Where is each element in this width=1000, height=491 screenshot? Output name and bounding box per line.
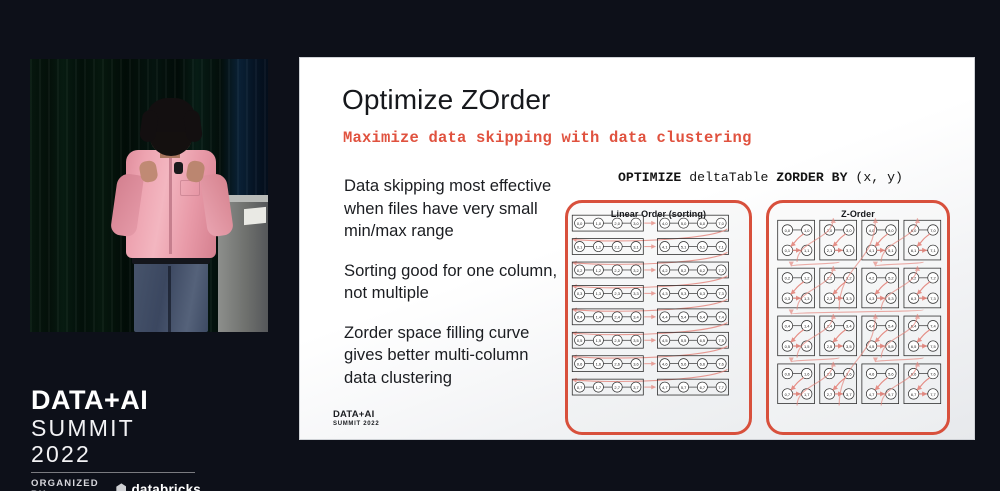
svg-text:4,5: 4,5 — [869, 344, 875, 349]
svg-text:4,4: 4,4 — [662, 315, 668, 320]
svg-text:1,2: 1,2 — [804, 276, 810, 281]
svg-text:5,6: 5,6 — [681, 362, 687, 367]
speaker-hair — [146, 98, 196, 132]
svg-text:7,2: 7,2 — [930, 276, 936, 281]
svg-text:6,2: 6,2 — [700, 268, 706, 273]
svg-text:7,3: 7,3 — [930, 296, 936, 301]
svg-text:5,1: 5,1 — [681, 244, 687, 249]
slide-body-text: Data skipping most effective when files … — [344, 175, 562, 390]
svg-text:2,3: 2,3 — [827, 296, 833, 301]
svg-text:7,5: 7,5 — [718, 338, 724, 343]
svg-text:5,0: 5,0 — [888, 228, 894, 233]
svg-text:0,4: 0,4 — [785, 324, 791, 329]
svg-text:0,3: 0,3 — [577, 291, 583, 296]
svg-text:4,2: 4,2 — [662, 268, 668, 273]
event-logo-line2: SUMMIT 2022 — [31, 415, 201, 468]
svg-text:3,6: 3,6 — [633, 362, 639, 367]
svg-text:4,3: 4,3 — [869, 296, 875, 301]
svg-text:7,4: 7,4 — [718, 315, 724, 320]
svg-text:5,6: 5,6 — [888, 371, 894, 376]
svg-text:3,7: 3,7 — [846, 392, 852, 397]
svg-text:0,1: 0,1 — [577, 244, 583, 249]
svg-text:0,5: 0,5 — [785, 344, 791, 349]
svg-text:6,7: 6,7 — [911, 392, 917, 397]
slide-footer-line1: DATA+AI — [333, 410, 379, 420]
svg-text:7,4: 7,4 — [930, 324, 936, 329]
databricks-wordmark: databricks — [131, 482, 201, 491]
svg-text:5,3: 5,3 — [681, 291, 687, 296]
event-logo-organizer: ORGANIZED BY databricks — [31, 478, 201, 491]
svg-text:1,5: 1,5 — [804, 344, 810, 349]
svg-text:1,6: 1,6 — [804, 371, 810, 376]
svg-text:1,0: 1,0 — [804, 228, 810, 233]
svg-text:7,6: 7,6 — [718, 362, 724, 367]
z-order-diagram: Z-Order 0,01,00,11,12,03,02,13,14,05,04,… — [766, 200, 950, 435]
svg-text:3,5: 3,5 — [846, 344, 852, 349]
svg-text:0,4: 0,4 — [577, 315, 583, 320]
svg-text:1,4: 1,4 — [804, 324, 810, 329]
svg-text:5,4: 5,4 — [681, 315, 687, 320]
speaker-figure — [116, 100, 226, 332]
svg-text:3,1: 3,1 — [846, 248, 852, 253]
svg-text:3,4: 3,4 — [846, 324, 852, 329]
slide-title: Optimize ZOrder — [342, 84, 550, 116]
svg-text:1,5: 1,5 — [596, 338, 602, 343]
code-token: (x, y) — [848, 170, 903, 185]
slide-footer-line2: SUMMIT 2022 — [333, 421, 379, 427]
svg-text:3,4: 3,4 — [633, 315, 639, 320]
svg-text:6,1: 6,1 — [911, 248, 917, 253]
svg-text:7,7: 7,7 — [930, 392, 936, 397]
svg-text:5,7: 5,7 — [681, 385, 687, 390]
svg-text:3,1: 3,1 — [633, 244, 639, 249]
speaker-video[interactable] — [30, 59, 268, 332]
event-logo-line1: DATA+AI — [31, 387, 201, 415]
body-paragraph-1: Data skipping most effective when files … — [344, 175, 562, 243]
svg-text:1,0: 1,0 — [596, 221, 602, 226]
svg-text:1,6: 1,6 — [596, 362, 602, 367]
svg-text:2,5: 2,5 — [827, 344, 833, 349]
svg-text:3,2: 3,2 — [633, 268, 639, 273]
svg-text:0,0: 0,0 — [577, 221, 583, 226]
svg-text:2,0: 2,0 — [614, 221, 620, 226]
svg-text:1,7: 1,7 — [804, 392, 810, 397]
svg-text:5,5: 5,5 — [888, 344, 894, 349]
svg-text:7,3: 7,3 — [718, 291, 724, 296]
svg-text:6,6: 6,6 — [700, 362, 706, 367]
svg-text:3,3: 3,3 — [633, 291, 639, 296]
svg-text:5,2: 5,2 — [888, 276, 894, 281]
svg-text:7,0: 7,0 — [718, 221, 724, 226]
svg-text:0,6: 0,6 — [785, 371, 791, 376]
svg-text:6,0: 6,0 — [700, 221, 706, 226]
svg-text:3,5: 3,5 — [633, 338, 639, 343]
svg-text:0,7: 0,7 — [577, 385, 583, 390]
svg-text:4,6: 4,6 — [869, 371, 875, 376]
slide: Optimize ZOrder Maximize data skipping w… — [299, 57, 975, 440]
svg-text:4,7: 4,7 — [869, 392, 875, 397]
svg-text:0,3: 0,3 — [785, 296, 791, 301]
body-paragraph-3: Zorder space filling curve gives better … — [344, 322, 562, 390]
svg-text:4,5: 4,5 — [662, 338, 668, 343]
organized-by-label: ORGANIZED BY — [31, 478, 111, 491]
svg-text:2,7: 2,7 — [827, 392, 833, 397]
svg-text:6,5: 6,5 — [911, 344, 917, 349]
linear-order-diagram: Linear Order (sorting) 0,01,02,03,04,05,… — [565, 200, 752, 435]
svg-text:2,3: 2,3 — [614, 291, 620, 296]
svg-text:0,6: 0,6 — [577, 362, 583, 367]
svg-text:4,0: 4,0 — [662, 221, 668, 226]
svg-text:5,3: 5,3 — [888, 296, 894, 301]
svg-text:5,2: 5,2 — [681, 268, 687, 273]
shirt-pocket — [180, 180, 200, 196]
svg-text:1,2: 1,2 — [596, 268, 602, 273]
svg-text:3,7: 3,7 — [633, 385, 639, 390]
svg-text:4,7: 4,7 — [662, 385, 668, 390]
databricks-logo-icon — [116, 483, 126, 491]
svg-text:7,7: 7,7 — [718, 385, 724, 390]
svg-text:2,6: 2,6 — [614, 362, 620, 367]
svg-text:0,2: 0,2 — [577, 268, 583, 273]
svg-text:2,1: 2,1 — [614, 244, 620, 249]
svg-text:1,3: 1,3 — [804, 296, 810, 301]
code-token: OPTIMIZE — [618, 170, 681, 185]
slide-subtitle: Maximize data skipping with data cluster… — [343, 129, 752, 147]
svg-text:0,7: 0,7 — [785, 392, 791, 397]
linear-order-graphic: 0,01,02,03,04,05,06,07,00,11,12,13,14,15… — [568, 203, 749, 432]
svg-text:4,1: 4,1 — [662, 244, 668, 249]
svg-text:5,1: 5,1 — [888, 248, 894, 253]
code-token: deltaTable — [681, 170, 776, 185]
optimize-code-snippet: OPTIMIZE deltaTable ZORDER BY (x, y) — [618, 170, 903, 185]
presentation-frame: DATA+AI SUMMIT 2022 ORGANIZED BY databri… — [0, 0, 1000, 491]
svg-text:6,3: 6,3 — [911, 296, 917, 301]
svg-text:7,1: 7,1 — [930, 248, 936, 253]
svg-text:0,0: 0,0 — [785, 228, 791, 233]
svg-text:6,3: 6,3 — [700, 291, 706, 296]
svg-text:2,4: 2,4 — [614, 315, 620, 320]
svg-text:0,5: 0,5 — [577, 338, 583, 343]
podium-paper — [244, 207, 266, 225]
svg-text:2,2: 2,2 — [614, 268, 620, 273]
code-token: ZORDER BY — [776, 170, 847, 185]
svg-text:2,7: 2,7 — [614, 385, 620, 390]
svg-text:2,5: 2,5 — [614, 338, 620, 343]
svg-text:6,7: 6,7 — [700, 385, 706, 390]
svg-text:7,5: 7,5 — [930, 344, 936, 349]
svg-text:7,6: 7,6 — [930, 371, 936, 376]
svg-text:4,3: 4,3 — [662, 291, 668, 296]
svg-text:3,0: 3,0 — [633, 221, 639, 226]
event-logo: DATA+AI SUMMIT 2022 ORGANIZED BY databri… — [31, 387, 201, 491]
svg-text:1,4: 1,4 — [596, 315, 602, 320]
svg-text:1,7: 1,7 — [596, 385, 602, 390]
svg-text:0,1: 0,1 — [785, 248, 791, 253]
svg-text:6,5: 6,5 — [700, 338, 706, 343]
slide-footer-logo: DATA+AI SUMMIT 2022 — [333, 410, 379, 428]
svg-text:7,2: 7,2 — [718, 268, 724, 273]
svg-text:3,0: 3,0 — [846, 228, 852, 233]
z-order-graphic: 0,01,00,11,12,03,02,13,14,05,04,15,16,07… — [769, 203, 947, 432]
svg-text:5,4: 5,4 — [888, 324, 894, 329]
svg-text:1,1: 1,1 — [596, 244, 602, 249]
svg-text:1,1: 1,1 — [804, 248, 810, 253]
lapel-microphone — [174, 162, 183, 174]
svg-text:6,1: 6,1 — [700, 244, 706, 249]
event-logo-divider — [31, 472, 195, 473]
svg-text:5,5: 5,5 — [681, 338, 687, 343]
svg-text:2,1: 2,1 — [827, 248, 833, 253]
svg-text:7,0: 7,0 — [930, 228, 936, 233]
svg-text:1,3: 1,3 — [596, 291, 602, 296]
svg-text:5,7: 5,7 — [888, 392, 894, 397]
svg-text:6,4: 6,4 — [700, 315, 706, 320]
svg-text:0,2: 0,2 — [785, 276, 791, 281]
body-paragraph-2: Sorting good for one column, not multipl… — [344, 260, 562, 305]
svg-text:3,3: 3,3 — [846, 296, 852, 301]
svg-text:4,2: 4,2 — [869, 276, 875, 281]
svg-text:4,6: 4,6 — [662, 362, 668, 367]
svg-text:7,1: 7,1 — [718, 244, 724, 249]
svg-text:5,0: 5,0 — [681, 221, 687, 226]
speaker-jeans — [134, 260, 208, 332]
svg-text:4,1: 4,1 — [869, 248, 875, 253]
